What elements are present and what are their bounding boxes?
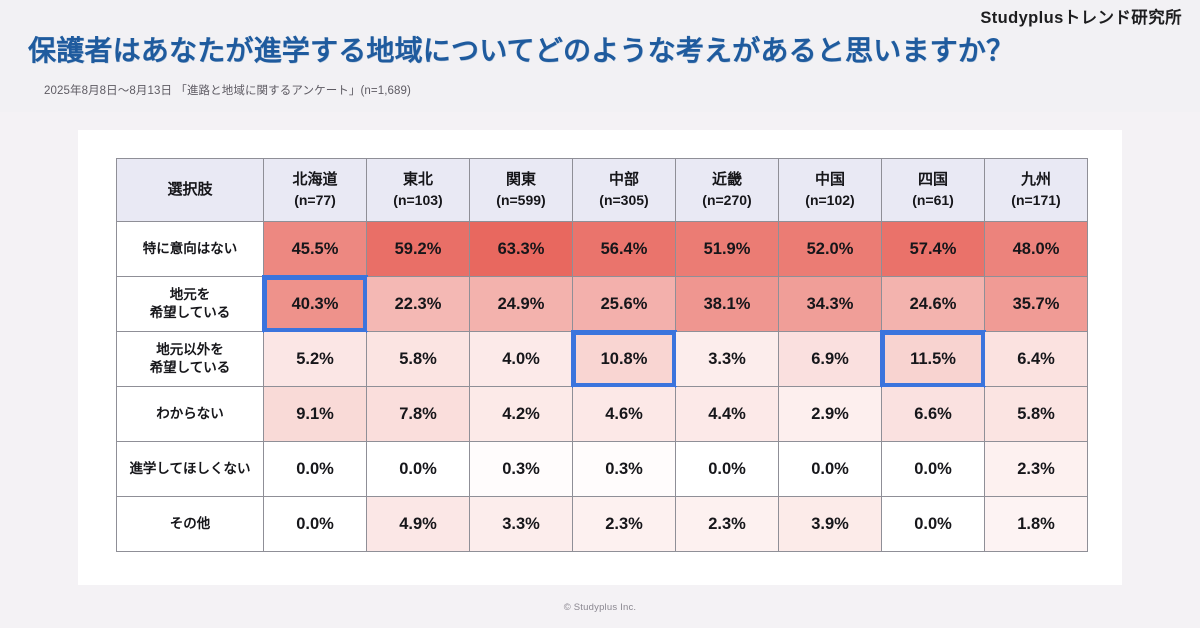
row-label-choice: 特に意向はない bbox=[117, 222, 264, 277]
row-label-choice: その他 bbox=[117, 497, 264, 552]
column-header-region: 関東(n=599) bbox=[470, 159, 573, 222]
heatmap-cell: 51.9% bbox=[676, 222, 779, 277]
region-name: 中部 bbox=[609, 171, 639, 188]
row-label-choice: 進学してほしくない bbox=[117, 442, 264, 497]
heatmap-cell: 0.0% bbox=[367, 442, 470, 497]
heatmap-cell: 2.3% bbox=[573, 497, 676, 552]
column-header-region: 東北(n=103) bbox=[367, 159, 470, 222]
row-label-choice: わからない bbox=[117, 387, 264, 442]
heatmap-cell: 63.3% bbox=[470, 222, 573, 277]
heatmap-cell: 2.3% bbox=[676, 497, 779, 552]
row-label-line: その他 bbox=[170, 516, 211, 531]
heatmap-cell: 4.0% bbox=[470, 332, 573, 387]
region-sample-size: (n=61) bbox=[882, 191, 984, 210]
heatmap-table-wrapper: 選択肢 北海道(n=77)東北(n=103)関東(n=599)中部(n=305)… bbox=[116, 158, 1088, 552]
table-row: 地元以外を希望している5.2%5.8%4.0%10.8%3.3%6.9%11.5… bbox=[117, 332, 1088, 387]
heatmap-cell: 0.0% bbox=[882, 442, 985, 497]
region-sample-size: (n=77) bbox=[264, 191, 366, 210]
heatmap-cell: 0.0% bbox=[779, 442, 882, 497]
survey-subtitle: 2025年8月8日〜8月13日 「進路と地域に関するアンケート」(n=1,689… bbox=[44, 82, 411, 98]
heatmap-cell: 4.4% bbox=[676, 387, 779, 442]
heatmap-cell: 38.1% bbox=[676, 277, 779, 332]
column-header-region: 近畿(n=270) bbox=[676, 159, 779, 222]
heatmap-cell: 45.5% bbox=[264, 222, 367, 277]
column-header-region: 中部(n=305) bbox=[573, 159, 676, 222]
heatmap-cell: 3.9% bbox=[779, 497, 882, 552]
table-row: 特に意向はない45.5%59.2%63.3%56.4%51.9%52.0%57.… bbox=[117, 222, 1088, 277]
column-header-region: 九州(n=171) bbox=[985, 159, 1088, 222]
heatmap-cell: 3.3% bbox=[470, 497, 573, 552]
brand-logo-text: Studyplusトレンド研究所 bbox=[980, 4, 1182, 28]
table-header: 選択肢 北海道(n=77)東北(n=103)関東(n=599)中部(n=305)… bbox=[117, 159, 1088, 222]
content-card: 選択肢 北海道(n=77)東北(n=103)関東(n=599)中部(n=305)… bbox=[78, 130, 1122, 585]
table-body: 特に意向はない45.5%59.2%63.3%56.4%51.9%52.0%57.… bbox=[117, 222, 1088, 552]
region-name: 東北 bbox=[403, 171, 433, 188]
heatmap-cell-highlighted: 11.5% bbox=[882, 332, 985, 387]
heatmap-cell-highlighted: 10.8% bbox=[573, 332, 676, 387]
row-label-line: 地元を bbox=[170, 287, 211, 302]
region-name: 北海道 bbox=[292, 171, 337, 188]
region-name: 九州 bbox=[1021, 171, 1051, 188]
copyright-note: © Studyplus Inc. bbox=[0, 602, 1200, 613]
heatmap-cell: 24.6% bbox=[882, 277, 985, 332]
heatmap-cell: 0.0% bbox=[264, 442, 367, 497]
region-sample-size: (n=305) bbox=[573, 191, 675, 210]
table-row: 地元を希望している40.3%22.3%24.9%25.6%38.1%34.3%2… bbox=[117, 277, 1088, 332]
row-label-line: 特に意向はない bbox=[143, 241, 238, 256]
column-header-region: 中国(n=102) bbox=[779, 159, 882, 222]
heatmap-cell: 2.9% bbox=[779, 387, 882, 442]
region-sample-size: (n=599) bbox=[470, 191, 572, 210]
heatmap-cell: 48.0% bbox=[985, 222, 1088, 277]
heatmap-cell: 4.9% bbox=[367, 497, 470, 552]
row-label-choice: 地元を希望している bbox=[117, 277, 264, 332]
region-sample-size: (n=270) bbox=[676, 191, 778, 210]
column-header-choice: 選択肢 bbox=[117, 159, 264, 222]
region-name: 近畿 bbox=[712, 171, 742, 188]
heatmap-cell: 56.4% bbox=[573, 222, 676, 277]
heatmap-cell: 2.3% bbox=[985, 442, 1088, 497]
region-sample-size: (n=171) bbox=[985, 191, 1087, 210]
heatmap-cell: 1.8% bbox=[985, 497, 1088, 552]
heatmap-cell: 0.3% bbox=[470, 442, 573, 497]
heatmap-cell: 25.6% bbox=[573, 277, 676, 332]
header-band: Studyplusトレンド研究所 保護者はあなたが進学する地域についてどのような… bbox=[0, 0, 1200, 112]
heatmap-cell: 52.0% bbox=[779, 222, 882, 277]
heatmap-cell: 6.6% bbox=[882, 387, 985, 442]
row-label-line: わからない bbox=[156, 406, 224, 421]
heatmap-cell-highlighted: 40.3% bbox=[264, 277, 367, 332]
heatmap-cell: 34.3% bbox=[779, 277, 882, 332]
heatmap-cell: 6.4% bbox=[985, 332, 1088, 387]
heatmap-cell: 5.8% bbox=[367, 332, 470, 387]
heatmap-cell: 24.9% bbox=[470, 277, 573, 332]
heatmap-cell: 4.2% bbox=[470, 387, 573, 442]
region-name: 中国 bbox=[815, 171, 845, 188]
page-title: 保護者はあなたが進学する地域についてどのような考えがあると思いますか？ bbox=[28, 29, 1014, 69]
region-name: 関東 bbox=[506, 171, 536, 188]
heatmap-cell: 0.3% bbox=[573, 442, 676, 497]
heatmap-cell: 6.9% bbox=[779, 332, 882, 387]
heatmap-cell: 35.7% bbox=[985, 277, 1088, 332]
heatmap-cell: 22.3% bbox=[367, 277, 470, 332]
heatmap-cell: 3.3% bbox=[676, 332, 779, 387]
heatmap-cell: 0.0% bbox=[264, 497, 367, 552]
row-label-line: 希望している bbox=[150, 305, 231, 320]
table-header-row: 選択肢 北海道(n=77)東北(n=103)関東(n=599)中部(n=305)… bbox=[117, 159, 1088, 222]
regional-response-heatmap-table: 選択肢 北海道(n=77)東北(n=103)関東(n=599)中部(n=305)… bbox=[116, 158, 1088, 552]
table-row: その他0.0%4.9%3.3%2.3%2.3%3.9%0.0%1.8% bbox=[117, 497, 1088, 552]
row-label-line: 地元以外を bbox=[156, 342, 224, 357]
heatmap-cell: 57.4% bbox=[882, 222, 985, 277]
column-header-region: 北海道(n=77) bbox=[264, 159, 367, 222]
region-sample-size: (n=102) bbox=[779, 191, 881, 210]
heatmap-cell: 5.2% bbox=[264, 332, 367, 387]
heatmap-cell: 0.0% bbox=[676, 442, 779, 497]
heatmap-cell: 5.8% bbox=[985, 387, 1088, 442]
column-header-region: 四国(n=61) bbox=[882, 159, 985, 222]
row-label-line: 進学してほしくない bbox=[129, 461, 250, 476]
table-row: 進学してほしくない0.0%0.0%0.3%0.3%0.0%0.0%0.0%2.3… bbox=[117, 442, 1088, 497]
heatmap-cell: 4.6% bbox=[573, 387, 676, 442]
table-row: わからない9.1%7.8%4.2%4.6%4.4%2.9%6.6%5.8% bbox=[117, 387, 1088, 442]
heatmap-cell: 0.0% bbox=[882, 497, 985, 552]
region-sample-size: (n=103) bbox=[367, 191, 469, 210]
row-label-line: 希望している bbox=[150, 360, 231, 375]
region-name: 四国 bbox=[918, 171, 948, 188]
heatmap-cell: 59.2% bbox=[367, 222, 470, 277]
row-label-choice: 地元以外を希望している bbox=[117, 332, 264, 387]
heatmap-cell: 9.1% bbox=[264, 387, 367, 442]
heatmap-cell: 7.8% bbox=[367, 387, 470, 442]
